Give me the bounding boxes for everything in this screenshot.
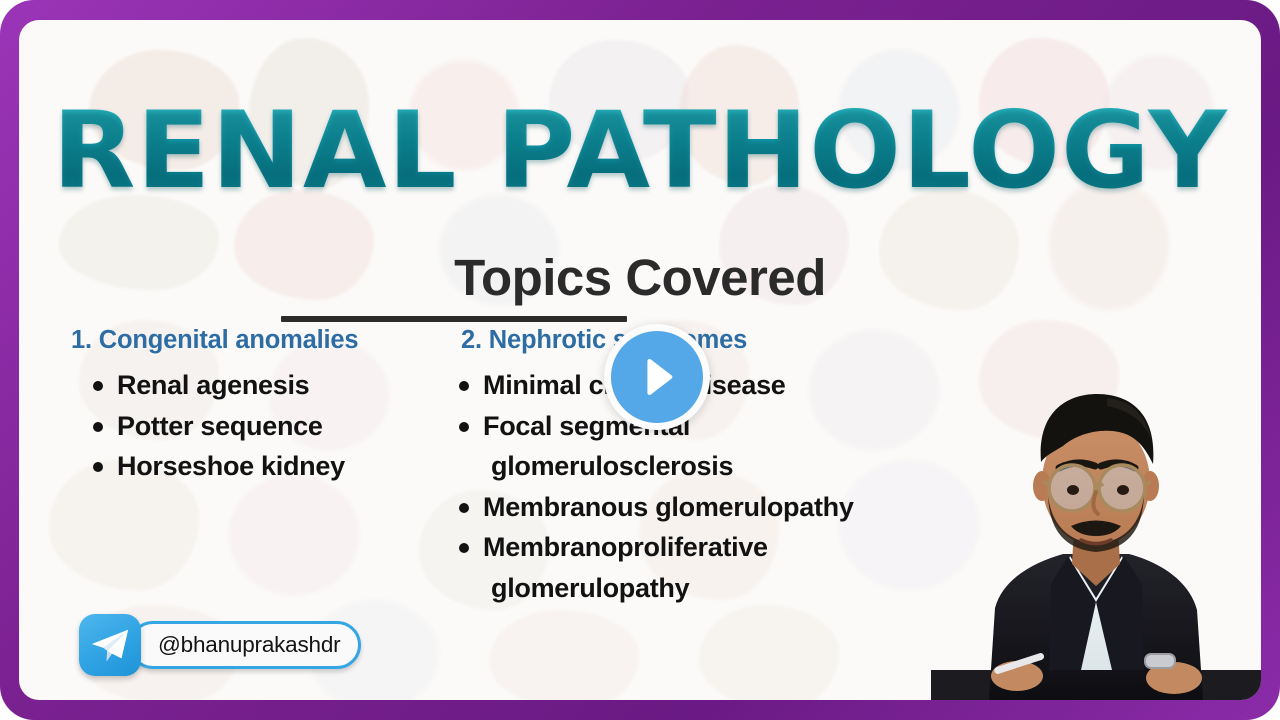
presenter-illustration	[931, 340, 1261, 700]
topic-column-1-list: Renal agenesis Potter sequence Horseshoe…	[55, 365, 475, 487]
page-title: RENAL PATHOLOGY	[19, 98, 1261, 204]
list-item: Renal agenesis	[55, 365, 475, 406]
telegram-badge[interactable]: @bhanuprakashdr	[79, 614, 361, 676]
telegram-handle-pill[interactable]: @bhanuprakashdr	[129, 621, 361, 669]
topic-column-1: 1. Congenital anomalies Renal agenesis P…	[55, 326, 475, 487]
list-item-label: Potter sequence	[117, 411, 323, 441]
slide-canvas: RENAL PATHOLOGY RENAL PATHOLOGY Topics C…	[19, 20, 1261, 700]
subtitle-underline	[281, 316, 627, 322]
list-item: Potter sequence	[55, 406, 475, 447]
list-item-label: Membranoproliferative	[483, 532, 768, 562]
slide-frame: RENAL PATHOLOGY RENAL PATHOLOGY Topics C…	[0, 0, 1280, 720]
play-button-disc	[611, 331, 703, 423]
telegram-icon-tile[interactable]	[79, 614, 141, 676]
play-triangle-icon	[634, 354, 680, 400]
list-item-label: Renal agenesis	[117, 370, 309, 400]
list-item: Horseshoe kidney	[55, 446, 475, 487]
telegram-handle: @bhanuprakashdr	[158, 632, 340, 658]
list-item-label: Horseshoe kidney	[117, 451, 345, 481]
topic-column-1-heading: 1. Congenital anomalies	[55, 326, 475, 355]
telegram-paper-plane-icon	[87, 622, 133, 668]
subtitle-wrap: Topics Covered	[19, 248, 1261, 313]
play-button[interactable]	[604, 324, 710, 430]
presenter-photo	[931, 340, 1261, 700]
subtitle: Topics Covered	[454, 248, 826, 313]
list-item-label: Membranous glomerulopathy	[483, 492, 854, 522]
